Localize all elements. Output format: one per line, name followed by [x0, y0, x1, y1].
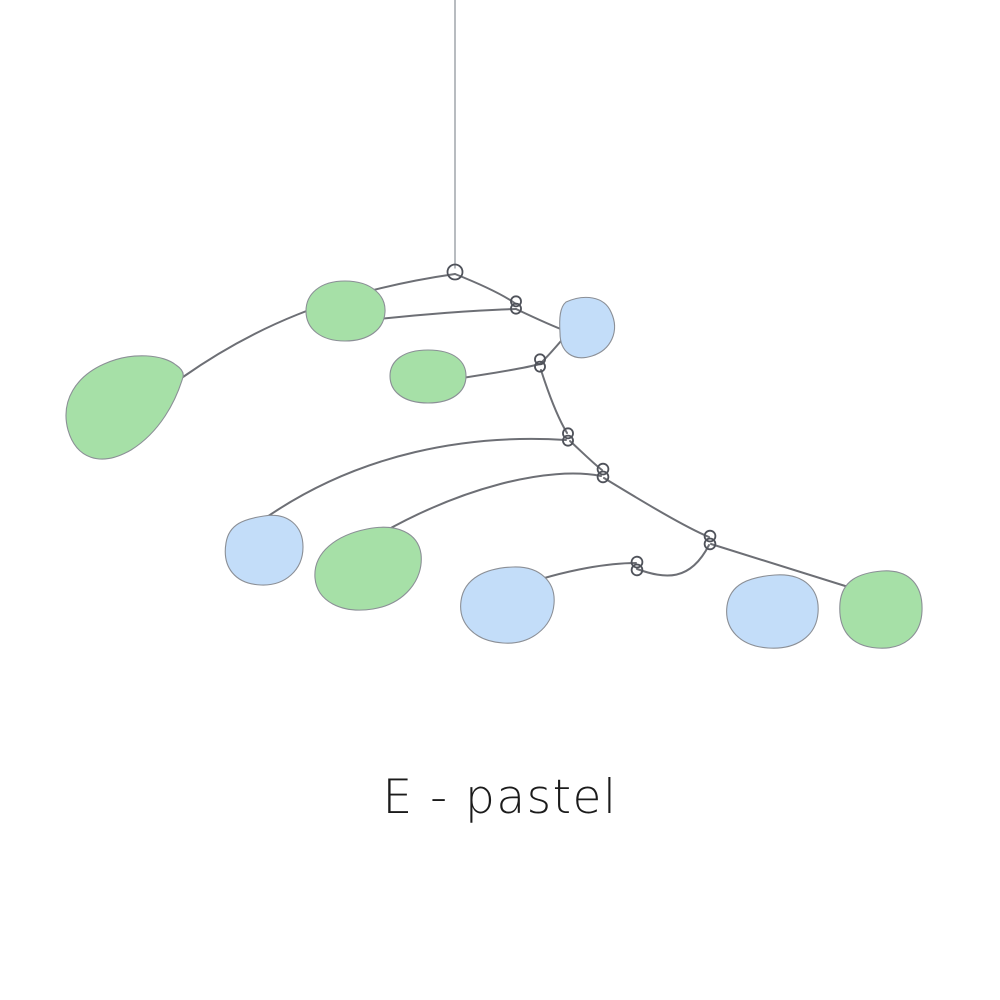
- shape-blue-upper-right: [560, 297, 615, 357]
- hook-lower-mid: [598, 464, 609, 483]
- shape-blue-bottom-right: [727, 575, 819, 648]
- artwork-canvas: E - pastel: [0, 0, 1000, 1000]
- shape-green-far-right: [840, 571, 922, 648]
- artwork-caption: E - pastel: [0, 770, 1000, 825]
- hook-lower-top: [563, 428, 573, 445]
- shape-green-circle-upper: [306, 281, 385, 341]
- arm-lower-upper-right: [570, 441, 602, 470]
- arm-mid-left: [462, 364, 540, 378]
- hook-lower-mid-lower-loop: [598, 472, 609, 483]
- hook-bottom-right: [632, 557, 643, 576]
- shape-green-large-left: [66, 356, 183, 459]
- shape-blue-bottom-center: [461, 567, 555, 643]
- arm-top-right: [455, 274, 516, 304]
- arm-bottom-right: [637, 545, 709, 576]
- shape-green-big-lower: [315, 527, 421, 610]
- arm-upper-lower-right: [516, 309, 566, 331]
- shape-blue-left-lower: [225, 515, 303, 585]
- mobile-shapes-group: [66, 281, 922, 648]
- hook-upper-right: [511, 296, 521, 313]
- arm-lower-second-right: [604, 478, 709, 537]
- mobile-illustration: [0, 0, 1000, 1000]
- hook-lower-right: [705, 531, 716, 550]
- shape-green-oval-middle: [390, 350, 466, 403]
- arm-vertical-drop: [541, 370, 567, 433]
